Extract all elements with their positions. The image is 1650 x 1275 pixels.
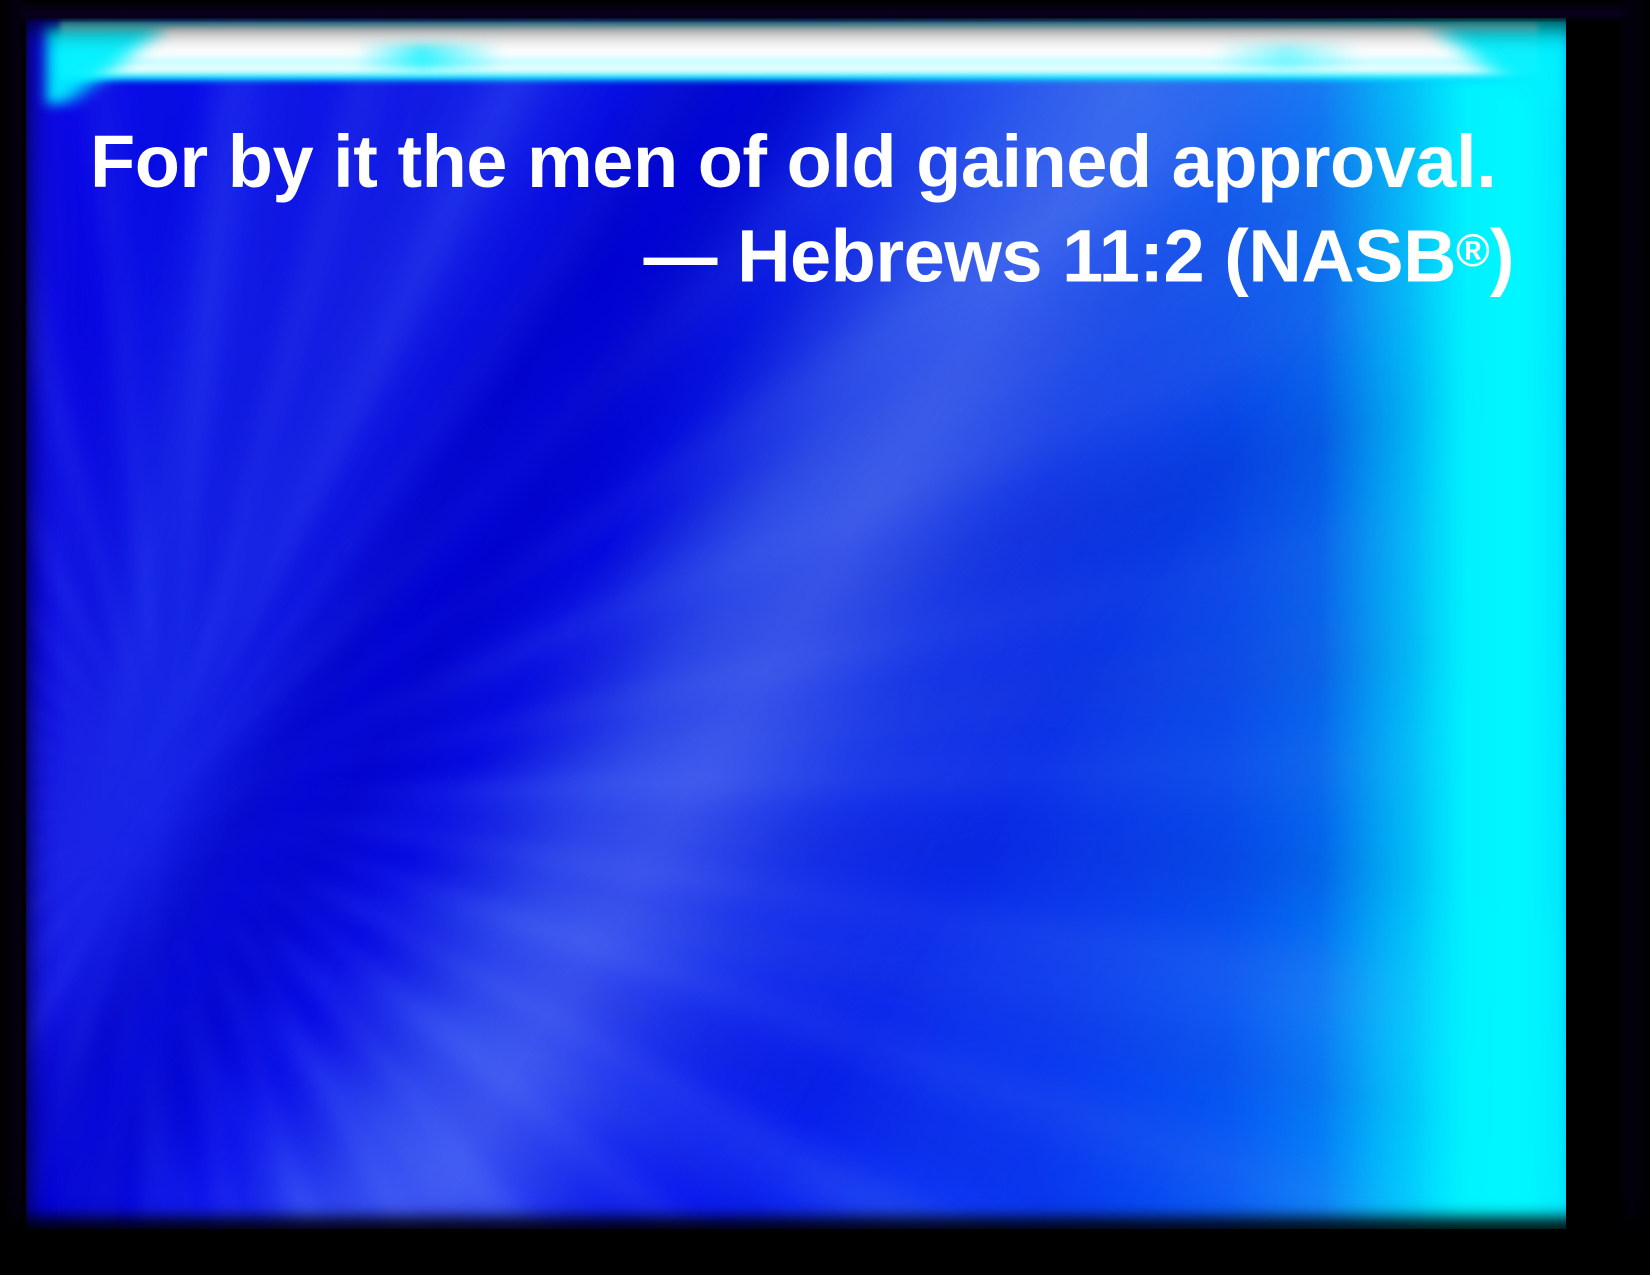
top-glow-right-shoulder <box>1426 26 1558 104</box>
verse-reference-text: — Hebrews 11:2 (NASB <box>644 215 1457 298</box>
verse-line-reference: — Hebrews 11:2 (NASB®) <box>90 206 1522 301</box>
top-glow-bar-mottle <box>60 44 1538 70</box>
slide-frame-bottom-edge <box>0 1229 1650 1275</box>
verse-line-scripture: For by it the men of old gained approval… <box>90 118 1522 206</box>
registered-trademark-icon: ® <box>1456 224 1490 276</box>
slide-frame-top-edge <box>0 0 1650 22</box>
top-glow-left-shoulder <box>46 26 166 104</box>
verse-text-block: For by it the men of old gained approval… <box>90 118 1522 301</box>
slide-frame-right-edge <box>1616 0 1650 1275</box>
bible-verse-slide: For by it the men of old gained approval… <box>0 0 1650 1275</box>
verse-reference-close-paren: ) <box>1490 215 1514 298</box>
slide-frame-left-edge <box>0 0 30 1275</box>
